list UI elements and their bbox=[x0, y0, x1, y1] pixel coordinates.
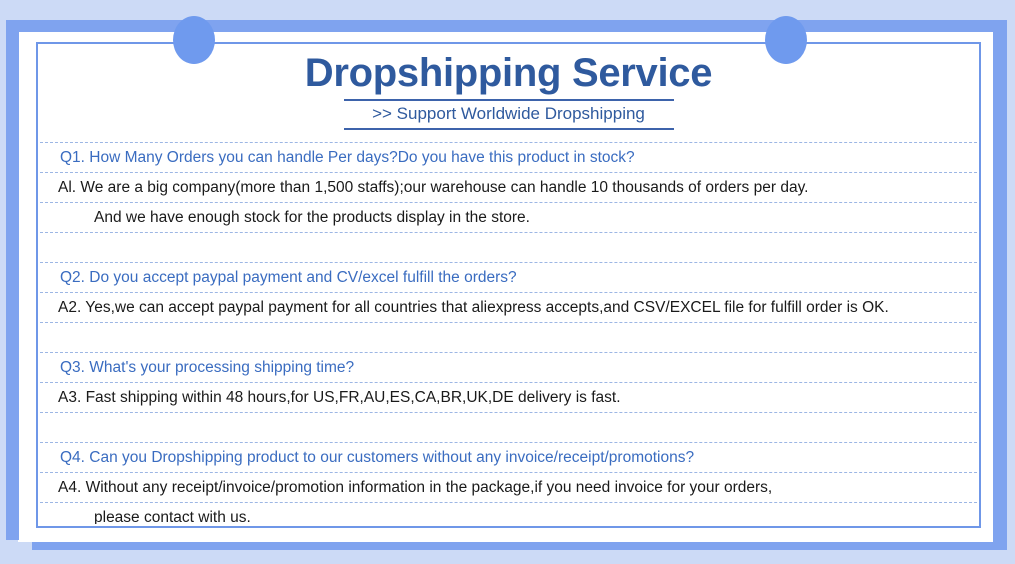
faq-answer-row: please contact with us. bbox=[40, 503, 977, 524]
content-area: Dropshipping Service >> Support Worldwid… bbox=[40, 46, 977, 524]
dropshipping-service-poster: Dropshipping Service >> Support Worldwid… bbox=[0, 0, 1015, 564]
faq-answer-1-line-1: Al. We are a big company(more than 1,500… bbox=[40, 179, 808, 196]
spacer-row bbox=[40, 323, 977, 353]
subtitle-banner: >> Support Worldwide Dropshipping bbox=[344, 99, 674, 130]
frame-left-bar bbox=[6, 20, 19, 540]
faq-question-row: Q3. What's your processing shipping time… bbox=[40, 353, 977, 383]
faq-question-3: Q3. What's your processing shipping time… bbox=[40, 359, 354, 376]
faq-answer-1-line-2: And we have enough stock for the product… bbox=[40, 209, 530, 226]
frame-top-bar bbox=[6, 20, 996, 32]
faq-question-row: Q2. Do you accept paypal payment and CV/… bbox=[40, 263, 977, 293]
faq-answer-row: A3. Fast shipping within 48 hours,for US… bbox=[40, 383, 977, 413]
spacer-row bbox=[40, 413, 977, 443]
faq-question-1: Q1. How Many Orders you can handle Per d… bbox=[40, 149, 635, 166]
faq-rows: Q1. How Many Orders you can handle Per d… bbox=[40, 142, 977, 524]
subtitle-text: >> Support Worldwide Dropshipping bbox=[372, 104, 645, 123]
spacer-row bbox=[40, 233, 977, 263]
faq-question-row: Q4. Can you Dropshipping product to our … bbox=[40, 443, 977, 473]
faq-answer-4-line-1: A4. Without any receipt/invoice/promotio… bbox=[40, 479, 772, 496]
faq-answer-4-line-2: please contact with us. bbox=[40, 509, 251, 524]
faq-answer-2-line-1: A2. Yes,we can accept paypal payment for… bbox=[40, 299, 889, 316]
faq-answer-row: A4. Without any receipt/invoice/promotio… bbox=[40, 473, 977, 503]
faq-question-row: Q1. How Many Orders you can handle Per d… bbox=[40, 142, 977, 173]
faq-answer-3-line-1: A3. Fast shipping within 48 hours,for US… bbox=[40, 389, 621, 406]
faq-answer-row: And we have enough stock for the product… bbox=[40, 203, 977, 233]
faq-answer-row: Al. We are a big company(more than 1,500… bbox=[40, 173, 977, 203]
faq-question-2: Q2. Do you accept paypal payment and CV/… bbox=[40, 269, 517, 286]
faq-answer-row: A2. Yes,we can accept paypal payment for… bbox=[40, 293, 977, 323]
page-title: Dropshipping Service bbox=[40, 46, 977, 99]
faq-question-4: Q4. Can you Dropshipping product to our … bbox=[40, 449, 694, 466]
